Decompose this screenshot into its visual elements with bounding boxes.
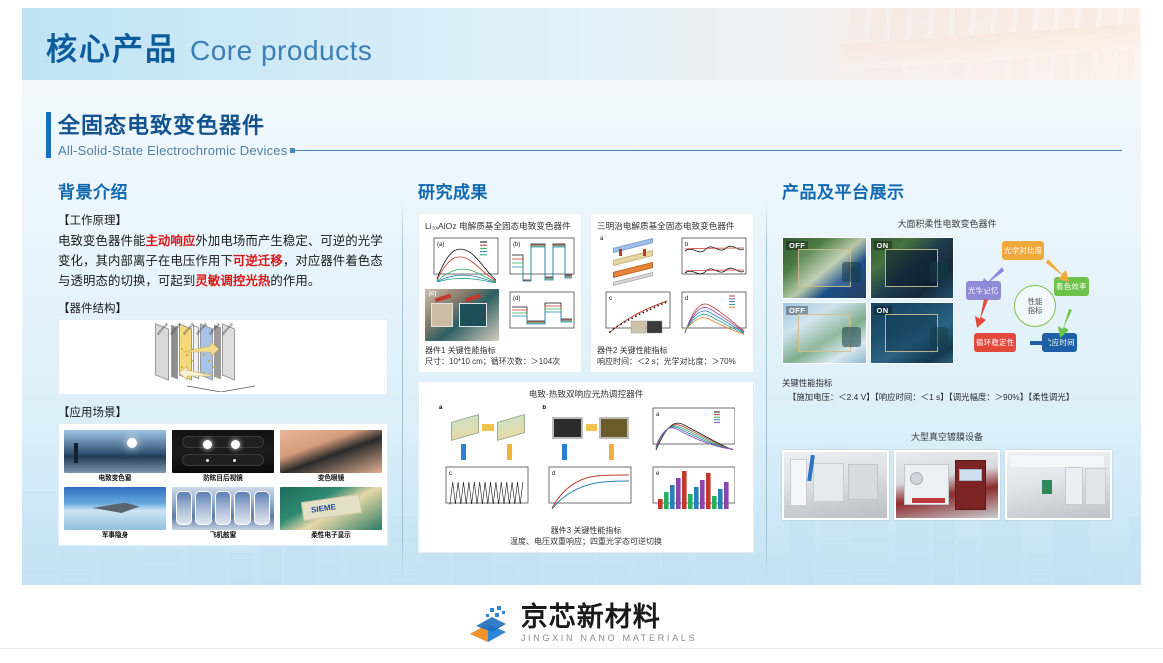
perf-arrows xyxy=(968,237,1116,367)
slide-root: 核心产品 Core products 全固态电致变色器件 All-Solid-S… xyxy=(0,0,1163,663)
key-metrics-title: 关键性能指标 xyxy=(782,377,1112,390)
header-title-group: 核心产品 Core products xyxy=(46,24,372,69)
flexible-device-subtitle: 大面积柔性电致变色器件 xyxy=(782,217,1112,230)
device2-metric-title: 器件2 关键性能指标 xyxy=(597,345,747,356)
section-subtitle-row: All-Solid-State Electrochromic Devices xyxy=(58,143,1122,158)
principle-paragraph: 电致变色器件能主动响应外加电场而产生稳定、可逆的光学变化，其内部离子在电压作用下… xyxy=(58,231,388,291)
scenario-caption: 电致变色窗 xyxy=(64,475,166,483)
scenario-caption: 防眩目后视镜 xyxy=(172,475,274,483)
device1-metric-text: 尺寸：10*10 cm；循环次数：＞104次 xyxy=(425,356,575,367)
application-scenarios-grid: 电致变色窗防眩目后视镜变色眼镜军事隐身飞机舷窗SIEME柔性电子显示 xyxy=(64,430,382,540)
device3-metric-text: 温度、电压双重响应；四重光学态可逆切换 xyxy=(425,536,747,547)
device2-title: 三明治电解质基全固态电致变色器件 xyxy=(597,220,747,232)
device3-title: 电致-热致双响应光热调控器件 xyxy=(425,388,747,400)
device2-card: 三明治电解质基全固态电致变色器件 abcd 器件2 关键性能指标 响应时间：＜2… xyxy=(590,213,754,373)
scenario-thumbnail xyxy=(172,487,274,530)
scenario-cell[interactable]: SIEME柔性电子显示 xyxy=(280,487,382,540)
scenario-caption: 柔性电子显示 xyxy=(280,532,382,540)
figure-panel: e xyxy=(644,464,735,520)
column-background: 背景介绍 【工作原理】 电致变色器件能主动响应外加电场而产生稳定、可逆的光学变化… xyxy=(58,178,388,546)
device-photo[interactable]: ON xyxy=(870,237,955,299)
flexible-device-photos: OFFONOFFON xyxy=(782,237,954,364)
column-divider-2 xyxy=(766,200,767,578)
application-scenarios-panel: 电致变色窗防眩目后视镜变色眼镜军事隐身飞机舷窗SIEME柔性电子显示 xyxy=(58,423,388,546)
figure-panel: d xyxy=(540,464,640,520)
figure-panel: b xyxy=(540,405,640,461)
header-title-cn: 核心产品 xyxy=(46,24,178,69)
scenario-thumbnail xyxy=(172,430,274,473)
company-logo-text: 京芯新材料 JINGXIN NANO MATERIALS xyxy=(521,604,697,643)
device3-figure: abacde xyxy=(425,403,747,521)
background-title: 背景介绍 xyxy=(58,178,388,203)
device1-title: Li₃ₓAlOz 电解质基全固态电致变色器件 xyxy=(425,220,575,232)
figure-panel: b xyxy=(673,235,747,287)
principle-highlight-1: 主动响应 xyxy=(145,234,195,248)
scenario-caption: 飞机舷窗 xyxy=(172,532,274,540)
principle-text-4: 的作用。 xyxy=(270,274,320,288)
platform-title: 产品及平台展示 xyxy=(782,178,1112,203)
structure-label: 【器件结构】 xyxy=(58,300,388,316)
scenario-thumbnail: SIEME xyxy=(280,487,382,530)
equipment-photos xyxy=(782,450,1112,520)
scenario-cell[interactable]: 防眩目后视镜 xyxy=(172,430,274,483)
scenario-caption: 军事隐身 xyxy=(64,532,166,540)
figure-panel: d xyxy=(673,289,747,341)
section-accent-bar xyxy=(46,112,51,158)
scenario-cell[interactable]: 飞机舷窗 xyxy=(172,487,274,540)
figure-panel: a xyxy=(644,405,735,461)
column-divider-1 xyxy=(402,200,403,578)
svg-text:c: c xyxy=(609,296,612,302)
device-structure-figure: 透明导电层透明导电层透明导电层透明导电层透明导电层透明导电层 xyxy=(58,319,388,395)
figure-panel: (d) xyxy=(501,289,575,341)
scenario-cell[interactable]: 变色眼镜 xyxy=(280,430,382,483)
scenario-thumbnail xyxy=(64,430,166,473)
principle-highlight-3: 灵敏调控光热 xyxy=(195,274,270,288)
scenario-caption: 变色眼镜 xyxy=(280,475,382,483)
device-stack-diagram: 透明导电层透明导电层透明导电层透明导电层透明导电层透明导电层 xyxy=(155,326,295,392)
principle-label: 【工作原理】 xyxy=(58,212,388,228)
column-platform: 产品及平台展示 大面积柔性电致变色器件 OFFONOFFON 性能 指标 光学对… xyxy=(782,178,1112,520)
colonnade-image xyxy=(841,8,1141,80)
equipment-subtitle: 大型真空镀膜设备 xyxy=(782,430,1112,443)
equipment-photo[interactable] xyxy=(894,450,1001,520)
section-heading: 全固态电致变色器件 All-Solid-State Electrochromic… xyxy=(58,108,1122,158)
equipment-photo[interactable] xyxy=(1005,450,1112,520)
principle-highlight-2: 可逆迁移 xyxy=(233,254,283,268)
device-photo[interactable]: OFF xyxy=(782,302,867,364)
section-divider-line xyxy=(294,150,1122,151)
scenario-cell[interactable]: 军事隐身 xyxy=(64,487,166,540)
logo-mark-svg xyxy=(466,604,512,644)
logo-name-en: JINGXIN NANO MATERIALS xyxy=(521,634,697,643)
slide-header: 核心产品 Core products xyxy=(22,8,1141,80)
footer-divider xyxy=(0,648,1163,649)
device1-metric-title: 器件1 关键性能指标 xyxy=(425,345,575,356)
performance-metric-diagram: 性能 指标 光学对比度着色效率响应时间循环稳定性光学记忆 xyxy=(968,237,1116,367)
scenario-thumbnail xyxy=(280,430,382,473)
svg-text:d: d xyxy=(685,296,688,302)
figure-panel: a xyxy=(597,235,671,287)
company-logo-icon xyxy=(466,604,512,644)
device-photo[interactable]: ON xyxy=(870,302,955,364)
equipment-photo[interactable] xyxy=(782,450,889,520)
slide-footer: 京芯新材料 JINGXIN NANO MATERIALS xyxy=(0,585,1163,663)
device-photo[interactable]: OFF xyxy=(782,237,867,299)
scenario-thumbnail xyxy=(64,487,166,530)
figure-panel: c xyxy=(597,289,671,341)
device2-metric-text: 响应时间：＜2 s；光学对比度：＞70% xyxy=(597,356,747,367)
device2-figure: abcd xyxy=(597,235,747,341)
figure-panel: c xyxy=(437,464,537,520)
figure-panel: a xyxy=(437,405,537,461)
section-title-en: All-Solid-State Electrochromic Devices xyxy=(58,143,287,158)
column-results: 研究成果 Li₃ₓAlOz 电解质基全固态电致变色器件 (a)(b)(c)(d)… xyxy=(418,178,754,553)
figure-panel: (c) xyxy=(425,289,499,341)
scenario-label: 【应用场景】 xyxy=(58,404,388,420)
figure-panel: (b) xyxy=(501,235,575,287)
scenario-cell[interactable]: 电致变色窗 xyxy=(64,430,166,483)
logo-name-cn: 京芯新材料 xyxy=(521,604,697,631)
principle-text-1: 电致变色器件能 xyxy=(58,234,145,248)
results-title: 研究成果 xyxy=(418,178,754,203)
svg-text:c: c xyxy=(449,471,452,477)
svg-text:(d): (d) xyxy=(513,296,520,302)
svg-text:(b): (b) xyxy=(513,242,520,248)
device3-card: 电致-热致双响应光热调控器件 abacde 器件3 关键性能指标 温度、电压双重… xyxy=(418,381,754,553)
svg-text:d: d xyxy=(552,471,555,477)
device1-card: Li₃ₓAlOz 电解质基全固态电致变色器件 (a)(b)(c)(d) 器件1 … xyxy=(418,213,582,373)
figure-panel: (a) xyxy=(425,235,499,287)
key-metrics-text: 【施加电压：＜2.4 V】【响应时间：＜1 s】【调光幅度：＞90%】【柔性调光… xyxy=(782,391,1112,404)
header-title-en: Core products xyxy=(190,35,372,67)
svg-text:(a): (a) xyxy=(437,242,444,248)
section-title-cn: 全固态电致变色器件 xyxy=(58,108,1122,140)
device3-metric-title: 器件3 关键性能指标 xyxy=(425,525,747,536)
device1-figure: (a)(b)(c)(d) xyxy=(425,235,575,341)
